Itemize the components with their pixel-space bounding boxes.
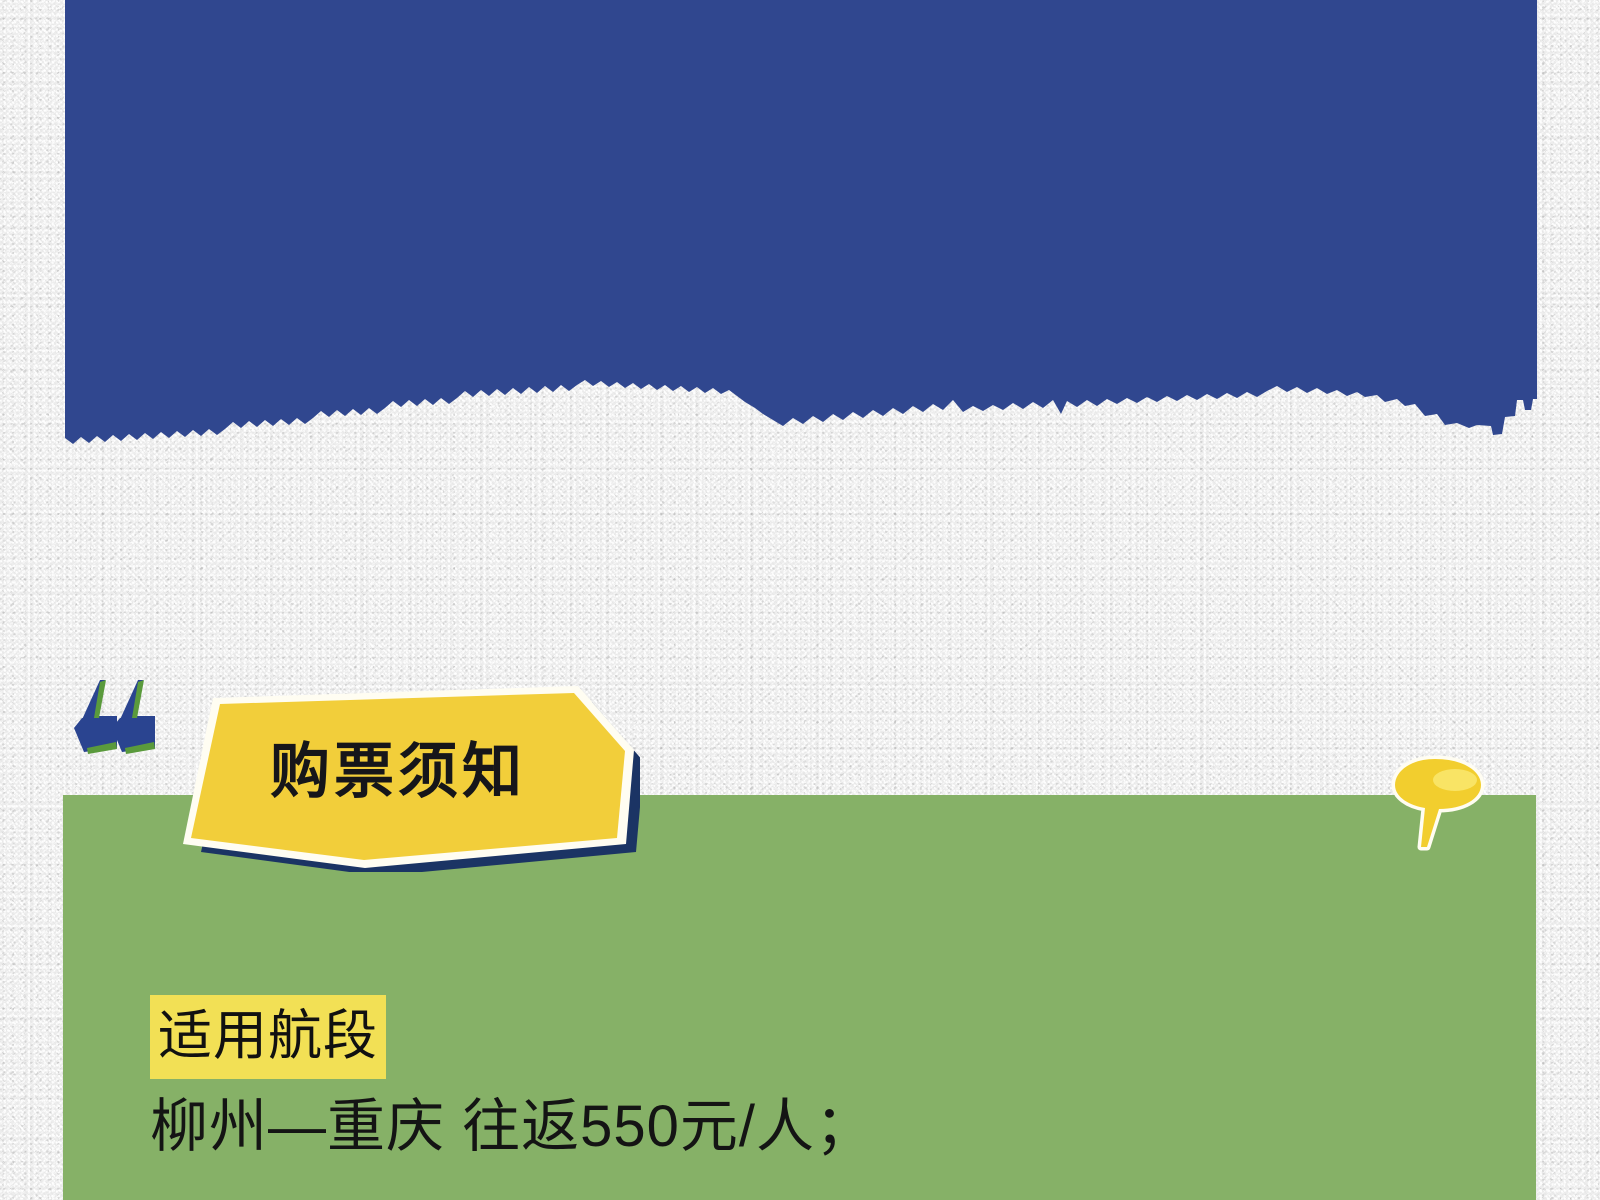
- title-plate: 购票须知: [160, 668, 640, 872]
- route-price-line: 柳州—重庆 往返550元/人；: [150, 1092, 874, 1162]
- section-label-applicable-routes: 适用航段: [150, 995, 386, 1079]
- promo-poster: 适用航段 柳州—重庆 往返550元/人；: [0, 0, 1600, 1200]
- title-plate-label: 购票须知: [160, 668, 640, 864]
- pushpin-icon: [1381, 747, 1489, 853]
- quote-mark-icon: [70, 672, 162, 760]
- section-label-wrapper: 适用航段: [150, 995, 386, 1079]
- blue-torn-banner: [65, 0, 1537, 448]
